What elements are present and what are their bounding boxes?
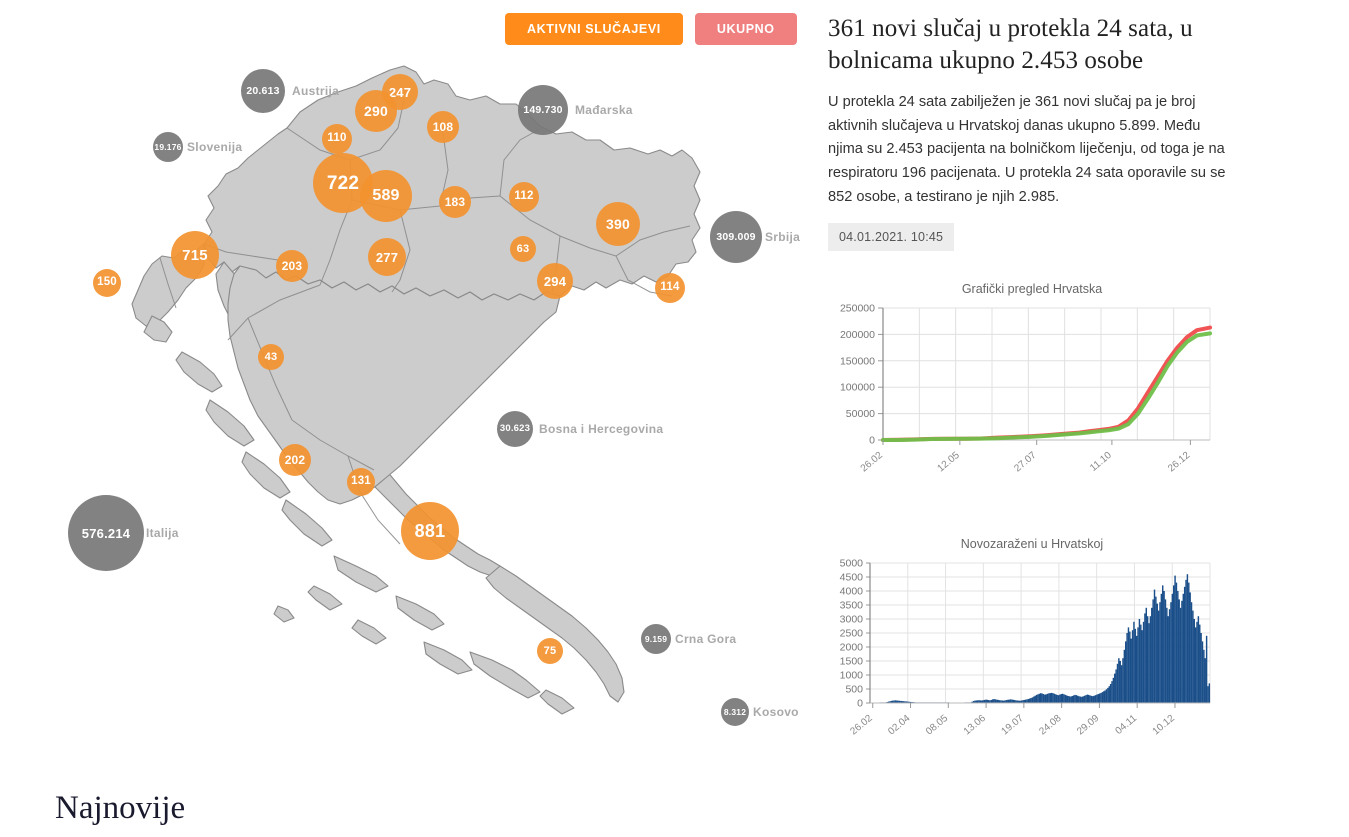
svg-text:02.04: 02.04 bbox=[886, 713, 913, 738]
svg-text:0: 0 bbox=[857, 698, 863, 710]
county-bubble-value: 108 bbox=[433, 121, 454, 133]
svg-text:200000: 200000 bbox=[840, 329, 875, 341]
neighbour-label-kosovo: Kosovo bbox=[753, 705, 799, 719]
county-bubble-value: 203 bbox=[282, 260, 303, 272]
county-bubble[interactable]: 112 bbox=[509, 182, 539, 212]
county-bubble[interactable]: 290 bbox=[355, 90, 397, 132]
page-title: 361 novi slučaj u protekla 24 sata, u bo… bbox=[828, 13, 1228, 77]
map-panel: 247 290 110 108 722 589 183 112 390 63 2… bbox=[0, 0, 820, 760]
map-land-shapes bbox=[132, 66, 700, 714]
county-bubble[interactable]: 150 bbox=[93, 269, 121, 297]
county-bubble[interactable]: 390 bbox=[596, 202, 640, 246]
svg-text:26.12: 26.12 bbox=[1166, 450, 1193, 475]
svg-text:26.02: 26.02 bbox=[848, 713, 875, 738]
county-bubble[interactable]: 203 bbox=[276, 250, 308, 282]
section-heading-najnovije: Najnovije bbox=[55, 790, 185, 827]
county-bubble[interactable]: 63 bbox=[510, 236, 536, 262]
county-bubble[interactable]: 114 bbox=[655, 273, 685, 303]
svg-text:2500: 2500 bbox=[840, 628, 864, 640]
svg-text:1000: 1000 bbox=[840, 670, 864, 682]
svg-text:500: 500 bbox=[845, 684, 863, 696]
neighbour-label-madarska: Mađarska bbox=[575, 103, 633, 117]
timestamp-badge: 04.01.2021. 10:45 bbox=[828, 223, 954, 251]
neighbour-label-slovenija: Slovenija bbox=[187, 140, 242, 154]
county-bubble[interactable]: 131 bbox=[347, 468, 375, 496]
county-bubble-value: 110 bbox=[327, 133, 346, 145]
county-bubble[interactable]: 277 bbox=[368, 238, 406, 276]
neighbour-bubble-value: 30.623 bbox=[500, 424, 530, 434]
svg-text:100000: 100000 bbox=[840, 382, 875, 394]
county-bubble-value: 390 bbox=[606, 217, 630, 231]
neighbour-bubble-value: 149.730 bbox=[523, 105, 562, 116]
county-bubble-value: 183 bbox=[445, 196, 466, 208]
tab-ukupno[interactable]: UKUPNO bbox=[695, 13, 797, 45]
chart-daily-plot: 0500100015002000250030003500400045005000… bbox=[828, 555, 1218, 760]
chart-cumulative-title: Grafički pregled Hrvatska bbox=[828, 282, 1218, 296]
svg-text:29.09: 29.09 bbox=[1075, 713, 1102, 738]
svg-text:1500: 1500 bbox=[840, 656, 864, 668]
tab-aktivni-slucajevi[interactable]: AKTIVNI SLUČAJEVI bbox=[505, 13, 683, 45]
svg-text:2000: 2000 bbox=[840, 642, 864, 654]
county-bubble[interactable]: 881 bbox=[401, 502, 459, 560]
svg-text:24.08: 24.08 bbox=[1037, 713, 1064, 738]
neighbour-bubble-srbija[interactable]: 309.009 bbox=[710, 211, 762, 263]
svg-text:5000: 5000 bbox=[840, 558, 864, 570]
svg-text:4000: 4000 bbox=[840, 586, 864, 598]
county-bubble-value: 881 bbox=[415, 522, 446, 540]
chart-daily[interactable]: Novozaraženi u Hrvatskoj 050010001500200… bbox=[828, 537, 1218, 765]
county-bubble[interactable]: 715 bbox=[171, 231, 219, 279]
neighbour-bubble-slovenija[interactable]: 19.176 bbox=[153, 132, 183, 162]
county-bubble-value: 277 bbox=[376, 251, 398, 264]
county-bubble[interactable]: 589 bbox=[360, 170, 412, 222]
county-bubble-value: 114 bbox=[660, 282, 679, 294]
county-bubble[interactable]: 202 bbox=[279, 444, 311, 476]
county-bubble-value: 75 bbox=[544, 646, 557, 657]
svg-text:50000: 50000 bbox=[846, 408, 875, 420]
county-bubble-value: 290 bbox=[364, 104, 388, 118]
chart-cumulative-plot: 05000010000015000020000025000026.0212.05… bbox=[828, 300, 1218, 490]
county-bubble-value: 63 bbox=[517, 244, 530, 255]
article-body: U protekla 24 sata zabilježen je 361 nov… bbox=[828, 91, 1228, 209]
svg-text:27.07: 27.07 bbox=[1012, 450, 1039, 475]
neighbour-bubble-value: 20.613 bbox=[246, 86, 279, 97]
neighbour-bubble-bosna[interactable]: 30.623 bbox=[497, 411, 533, 447]
county-bubble[interactable]: 110 bbox=[322, 124, 352, 154]
svg-text:11.10: 11.10 bbox=[1088, 450, 1114, 474]
croatia-map[interactable] bbox=[0, 0, 820, 760]
neighbour-bubble-crnagora[interactable]: 9.159 bbox=[641, 624, 671, 654]
county-bubble[interactable]: 43 bbox=[258, 344, 284, 370]
svg-text:3500: 3500 bbox=[840, 600, 864, 612]
svg-text:19.07: 19.07 bbox=[1000, 713, 1027, 738]
neighbour-label-srbija: Srbija bbox=[765, 230, 800, 244]
county-bubble-value: 43 bbox=[265, 352, 278, 363]
neighbour-label-austrija: Austrija bbox=[292, 84, 339, 98]
neighbour-bubble-italija[interactable]: 576.214 bbox=[68, 495, 144, 571]
svg-text:150000: 150000 bbox=[840, 355, 875, 367]
svg-text:0: 0 bbox=[869, 435, 875, 447]
article-panel: 361 novi slučaj u protekla 24 sata, u bo… bbox=[828, 0, 1228, 251]
county-bubble-value: 715 bbox=[182, 248, 208, 263]
county-bubble[interactable]: 183 bbox=[439, 186, 471, 218]
svg-text:10.12: 10.12 bbox=[1151, 713, 1178, 738]
svg-text:12.05: 12.05 bbox=[936, 450, 963, 475]
svg-text:4500: 4500 bbox=[840, 572, 864, 584]
neighbour-bubble-value: 8.312 bbox=[724, 708, 746, 717]
neighbour-bubble-kosovo[interactable]: 8.312 bbox=[721, 698, 749, 726]
svg-text:250000: 250000 bbox=[840, 303, 875, 315]
county-bubble-value: 722 bbox=[327, 174, 359, 193]
neighbour-label-bosna: Bosna i Hercegovina bbox=[539, 422, 663, 436]
view-toggle-group[interactable]: AKTIVNI SLUČAJEVI UKUPNO bbox=[505, 13, 797, 45]
svg-text:08.05: 08.05 bbox=[924, 713, 951, 738]
neighbour-bubble-madarska[interactable]: 149.730 bbox=[518, 85, 568, 135]
chart-daily-title: Novozaraženi u Hrvatskoj bbox=[828, 537, 1218, 551]
county-bubble[interactable]: 108 bbox=[427, 111, 459, 143]
neighbour-bubble-value: 19.176 bbox=[154, 143, 181, 152]
neighbour-bubble-value: 9.159 bbox=[645, 635, 667, 644]
svg-text:04.11: 04.11 bbox=[1113, 713, 1139, 737]
neighbour-label-crnagora: Crna Gora bbox=[675, 632, 736, 646]
neighbour-bubble-value: 576.214 bbox=[82, 527, 130, 540]
svg-text:3000: 3000 bbox=[840, 614, 864, 626]
county-bubble-value: 112 bbox=[514, 191, 533, 203]
county-bubble-value: 202 bbox=[285, 454, 306, 466]
county-bubble-value: 131 bbox=[351, 476, 371, 488]
county-bubble-value: 589 bbox=[372, 188, 399, 204]
svg-text:13.06: 13.06 bbox=[962, 713, 989, 738]
neighbour-bubble-value: 309.009 bbox=[716, 232, 755, 243]
chart-cumulative[interactable]: Grafički pregled Hrvatska 05000010000015… bbox=[828, 282, 1218, 497]
county-bubble-value: 247 bbox=[389, 86, 411, 99]
neighbour-label-italija: Italija bbox=[146, 526, 179, 540]
svg-text:26.02: 26.02 bbox=[859, 450, 886, 475]
county-bubble-value: 150 bbox=[97, 277, 117, 289]
county-bubble[interactable]: 294 bbox=[537, 263, 573, 299]
neighbour-bubble-austrija[interactable]: 20.613 bbox=[241, 69, 285, 113]
county-bubble[interactable]: 75 bbox=[537, 638, 563, 664]
county-bubble-value: 294 bbox=[544, 275, 566, 288]
